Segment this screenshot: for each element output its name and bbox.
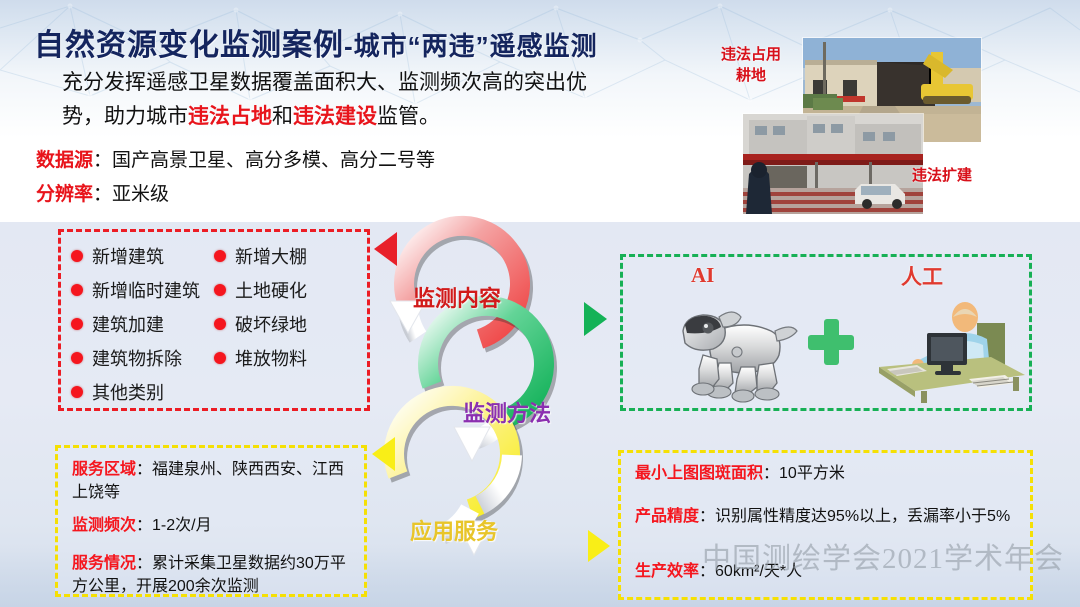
meta-resolution-value: ：亚米级 <box>93 184 169 205</box>
slide-title-main: 自然资源变化监测案例 <box>34 29 344 62</box>
list-item-label: 新增建筑 <box>92 243 164 269</box>
arrow-right-green-icon <box>584 302 607 336</box>
bullet-dot-icon <box>214 352 226 364</box>
list-item-label: 土地硬化 <box>235 277 307 303</box>
monitoring-frequency-key: 监测频次 <box>72 517 136 534</box>
arrow-right-yellow-icon <box>588 530 610 562</box>
list-item: 破坏绿地 <box>214 310 307 338</box>
list-item: 堆放物料 <box>214 344 307 372</box>
meta-resolution: 分辨率：亚米级 <box>36 182 169 208</box>
plus-icon <box>808 319 854 365</box>
street-illegal-structure-photo <box>742 113 924 215</box>
meta-datasource-key: 数据源 <box>36 150 93 171</box>
intro-paragraph: 充分发挥遥感卫星数据覆盖面积大、监测频次高的突出优 势，助力城市违法占地和违法建… <box>62 66 662 134</box>
list-item: 建筑物拆除 <box>71 344 200 372</box>
intro-line-1: 充分发挥遥感卫星数据覆盖面积大、监测频次高的突出优 <box>62 66 662 100</box>
bullet-dot-icon <box>71 386 83 398</box>
bullet-dot-icon <box>71 352 83 364</box>
slide-title-sub: -城市“两违”遥感监测 <box>344 31 598 61</box>
slide-title: 自然资源变化监测案例-城市“两违”遥感监测 <box>34 20 598 64</box>
product-accuracy-row: 产品精度：识别属性精度达95%以上，丢漏率小于5% <box>635 505 1025 528</box>
cycle-label-monitoring-method: 监测方法 <box>463 396 551 428</box>
monitoring-method-box: AI 人工 <box>620 254 1032 411</box>
min-patch-area-key: 最小上图图斑面积 <box>635 465 763 482</box>
meta-resolution-key: 分辨率 <box>36 184 93 205</box>
min-patch-area-row: 最小上图图斑面积：10平方米 <box>635 462 845 485</box>
list-item-label: 建筑加建 <box>92 311 164 337</box>
arrow-left-red-icon <box>374 232 397 266</box>
robot-dog-icon <box>675 297 815 405</box>
list-item-label: 破坏绿地 <box>235 311 307 337</box>
service-area-key: 服务区域 <box>72 461 136 478</box>
list-item: 建筑加建 <box>71 310 200 338</box>
intro-line2-conj: 和 <box>272 105 293 128</box>
bullet-dot-icon <box>71 318 83 330</box>
photo-label-illegal-farmland: 违法占用 耕地 <box>708 44 794 86</box>
cycle-label-monitoring-content: 监测内容 <box>413 281 501 313</box>
service-area-row: 服务区域：福建泉州、陕西西安、江西上饶等 <box>72 458 357 504</box>
service-status-key: 服务情况 <box>72 555 136 572</box>
monitoring-frequency-row: 监测频次：1-2次/月 <box>72 514 212 537</box>
list-item-label: 其他类别 <box>92 379 164 405</box>
monitoring-frequency-value: ：1-2次/月 <box>136 517 212 534</box>
list-item-label: 建筑物拆除 <box>92 345 182 371</box>
conference-watermark: 中国测绘学会2021学术年会 <box>702 535 1064 577</box>
human-at-computer-icon <box>873 295 1031 407</box>
bullet-dot-icon <box>71 250 83 262</box>
list-item: 其他类别 <box>71 378 200 406</box>
bullet-dot-icon <box>214 250 226 262</box>
monitoring-content-column-left: 新增建筑 新增临时建筑 建筑加建 建筑物拆除 其他类别 <box>71 242 200 406</box>
product-accuracy-value: ：识别属性精度达95%以上，丢漏率小于5% <box>699 508 1010 525</box>
list-item: 土地硬化 <box>214 276 307 304</box>
photo-label-farmland-line1: 违法占用 <box>721 46 781 63</box>
intro-line2-prefix: 势，助力城市 <box>62 105 188 128</box>
intro-line2-suffix: 监管。 <box>377 105 440 128</box>
cycle-label-application-service: 应用服务 <box>410 514 498 546</box>
list-item: 新增大棚 <box>214 242 307 270</box>
production-efficiency-key: 生产效率 <box>635 563 699 580</box>
list-item: 新增临时建筑 <box>71 276 200 304</box>
intro-highlight-illegal-occupation: 违法占地 <box>188 105 272 128</box>
bullet-dot-icon <box>214 284 226 296</box>
list-item: 新增建筑 <box>71 242 200 270</box>
intro-line-2: 势，助力城市违法占地和违法建设监管。 <box>62 100 662 134</box>
product-spec-box: 最小上图图斑面积：10平方米 产品精度：识别属性精度达95%以上，丢漏率小于5%… <box>618 450 1033 600</box>
intro-line1-text: 充分发挥遥感卫星数据覆盖面积大、监测频次高的突出优 <box>62 71 587 94</box>
photo-label-illegal-expansion: 违法扩建 <box>912 165 972 186</box>
slide-canvas: 自然资源变化监测案例-城市“两违”遥感监测 充分发挥遥感卫星数据覆盖面积大、监测… <box>0 0 1080 607</box>
human-label: 人工 <box>901 261 943 291</box>
min-patch-area-value: ：10平方米 <box>763 465 845 482</box>
list-item-label: 新增临时建筑 <box>92 277 200 303</box>
monitoring-content-list: 新增建筑 新增临时建筑 建筑加建 建筑物拆除 其他类别 新增大棚 土地硬化 破坏… <box>71 242 307 406</box>
service-info-box: 服务区域：福建泉州、陕西西安、江西上饶等 监测频次：1-2次/月 服务情况：累计… <box>55 445 367 597</box>
bullet-dot-icon <box>214 318 226 330</box>
meta-datasource: 数据源：国产高景卫星、高分多模、高分二号等 <box>36 148 435 174</box>
list-item-label: 新增大棚 <box>235 243 307 269</box>
product-accuracy-key: 产品精度 <box>635 508 699 525</box>
intro-highlight-illegal-construction: 违法建设 <box>293 105 377 128</box>
arrow-left-yellow-icon <box>372 437 395 471</box>
monitoring-content-column-right: 新增大棚 土地硬化 破坏绿地 堆放物料 <box>214 242 307 406</box>
meta-datasource-value: ：国产高景卫星、高分多模、高分二号等 <box>93 150 435 171</box>
list-item-label: 堆放物料 <box>235 345 307 371</box>
monitoring-content-box: 新增建筑 新增临时建筑 建筑加建 建筑物拆除 其他类别 新增大棚 土地硬化 破坏… <box>58 229 370 411</box>
photo-label-farmland-line2: 耕地 <box>736 67 766 84</box>
service-status-row: 服务情况：累计采集卫星数据约30万平方公里，开展200余次监测 <box>72 552 360 598</box>
bullet-dot-icon <box>71 284 83 296</box>
ai-label: AI <box>691 263 714 288</box>
